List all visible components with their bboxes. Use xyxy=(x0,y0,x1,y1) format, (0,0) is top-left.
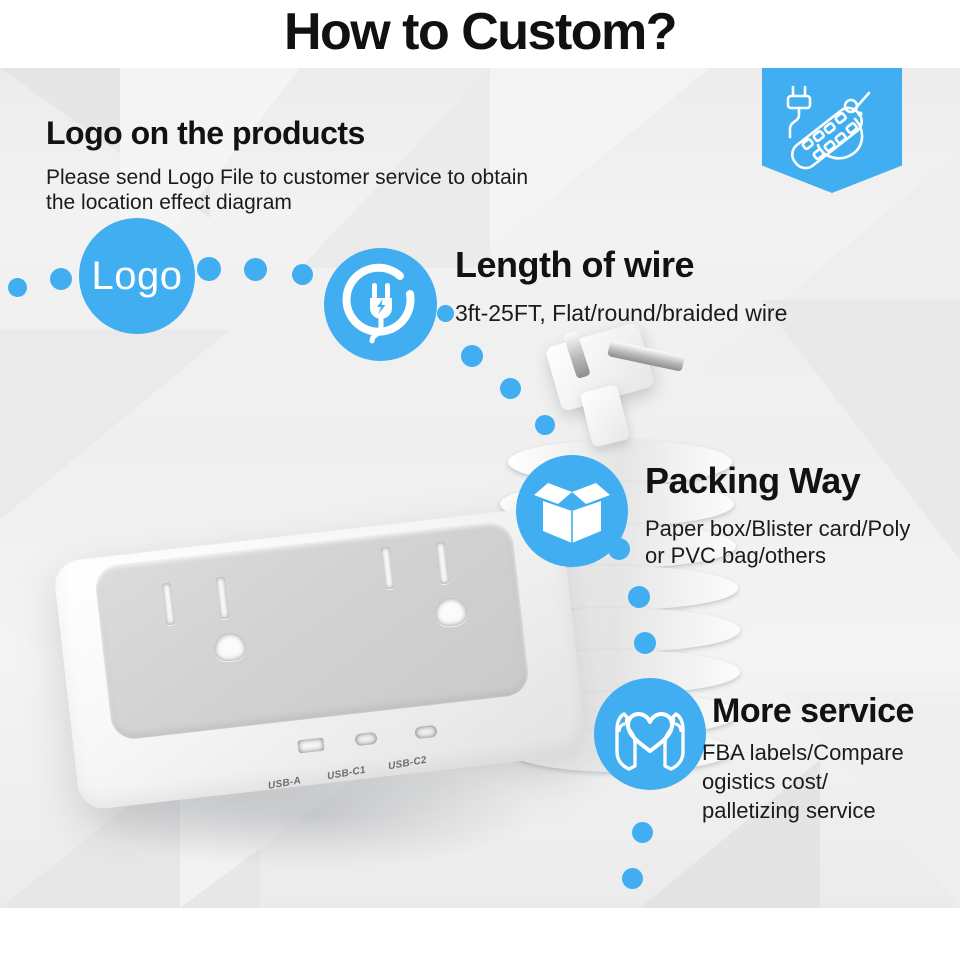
trail-dot xyxy=(634,632,656,654)
section-body-logo-line2: the location effect diagram xyxy=(46,190,292,216)
trail-dot xyxy=(461,345,483,367)
heart-in-hands-icon xyxy=(607,692,693,776)
logo-placeholder-label: Logo xyxy=(92,254,183,299)
section-body-packing-line1: Paper box/Blister card/Poly xyxy=(645,516,910,543)
service-icon-circle xyxy=(594,678,706,790)
trail-dot xyxy=(197,257,221,281)
trail-dot xyxy=(622,868,643,889)
ac-plug xyxy=(524,326,704,456)
logo-placeholder-circle: Logo xyxy=(79,218,195,334)
trail-dot xyxy=(632,822,653,843)
open-box-icon xyxy=(531,473,613,549)
trail-dot xyxy=(628,586,650,608)
section-heading-logo: Logo on the products xyxy=(46,117,365,151)
section-body-service-line2: ogistics cost/ xyxy=(702,769,828,796)
trail-dot xyxy=(292,264,313,285)
trail-dot xyxy=(8,278,27,297)
section-body-logo-line1: Please send Logo File to customer servic… xyxy=(46,165,528,191)
section-body-service-line3: palletizing service xyxy=(702,798,876,825)
trail-dot xyxy=(608,538,630,560)
trail-dot xyxy=(500,378,521,399)
page-title: How to Custom? xyxy=(0,2,960,62)
trail-dot xyxy=(244,258,267,281)
bg-facet xyxy=(490,68,710,248)
power-strip-plug-icon xyxy=(781,81,883,173)
bg-facet xyxy=(0,330,230,520)
trail-dot xyxy=(437,305,454,322)
section-heading-service: More service xyxy=(712,694,914,730)
trail-dot xyxy=(50,268,72,290)
plug-icon xyxy=(338,262,424,348)
background-bottom-strip xyxy=(0,908,960,960)
plug-icon-circle xyxy=(324,248,437,361)
power-strip-product: USB-A USB-C1 USB-C2 xyxy=(60,515,600,825)
section-heading-wire: Length of wire xyxy=(455,246,694,284)
section-body-service-line1: FBA labels/Compare xyxy=(702,740,904,767)
section-body-wire-line1: 3ft-25FT, Flat/round/braided wire xyxy=(455,299,787,327)
section-body-packing-line2: or PVC bag/others xyxy=(645,543,826,570)
section-heading-packing: Packing Way xyxy=(645,462,860,500)
infographic-canvas: How to Custom? xyxy=(0,0,960,960)
